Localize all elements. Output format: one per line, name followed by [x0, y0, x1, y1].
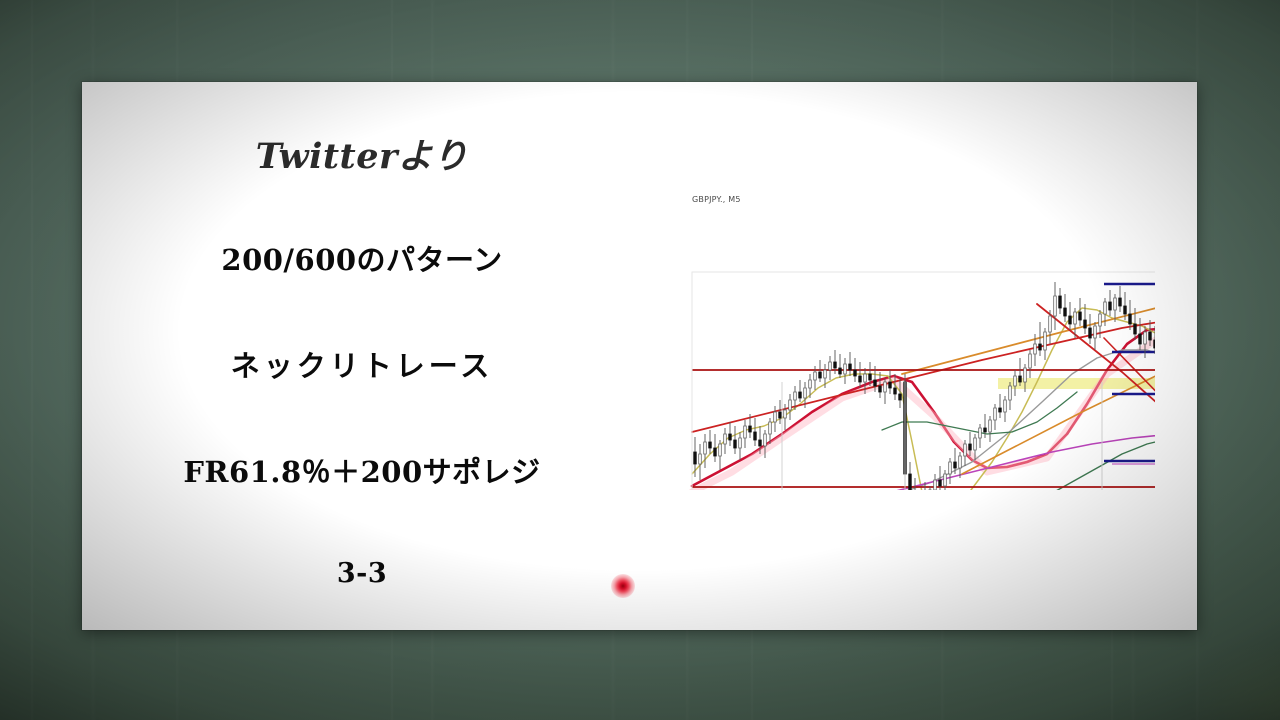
candle-body: [1109, 302, 1112, 310]
candle-body: [1154, 340, 1155, 348]
candle-body: [734, 440, 737, 448]
candle-body: [994, 408, 997, 420]
candle-body: [1004, 400, 1007, 412]
candle-body: [874, 380, 877, 386]
candle-body: [934, 480, 937, 490]
candle-body: [809, 380, 812, 388]
candle-body: [739, 438, 742, 448]
candle-body: [694, 452, 697, 464]
candle-body: [834, 362, 837, 368]
candle-body: [1124, 306, 1127, 314]
candle-body: [1089, 328, 1092, 338]
candle-body: [824, 370, 827, 378]
bullet-item-4: 3-3: [82, 558, 642, 589]
candle-body: [704, 442, 707, 454]
candle-body: [849, 364, 852, 370]
bullet-item-2: ネックリトレース: [82, 343, 642, 385]
presentation-stage: Twitterより 200/600のパターン ネックリトレース FR61.8％＋…: [0, 0, 1280, 720]
candle-body: [799, 392, 802, 398]
bullet-item-3: FR61.8％＋200サポレジ: [82, 449, 642, 491]
candle-body: [999, 408, 1002, 412]
page-title: Twitterより: [82, 128, 642, 179]
candle-body: [894, 388, 897, 394]
candle-body: [794, 392, 797, 400]
candle-body: [1049, 316, 1052, 332]
candle-body: [754, 432, 757, 440]
candle-body: [869, 374, 872, 380]
candle-body: [724, 434, 727, 444]
candle-body: [1119, 298, 1122, 306]
candle-body: [959, 456, 962, 468]
candle-body: [979, 428, 982, 438]
candle-body: [1129, 314, 1132, 324]
candle-body: [814, 372, 817, 380]
candle-body: [1074, 312, 1077, 324]
candle-body: [709, 442, 712, 448]
candle-body: [1084, 320, 1087, 328]
candle-body: [1034, 344, 1037, 354]
candle-body: [789, 400, 792, 410]
candle-body: [1114, 298, 1117, 310]
candle-body: [774, 412, 777, 422]
laser-pointer-dot: [611, 574, 635, 598]
candle-body: [879, 386, 882, 392]
candle-body: [1134, 324, 1137, 334]
candle-body: [1064, 308, 1067, 316]
candle-body: [989, 420, 992, 432]
candle-body: [829, 362, 832, 370]
candle-body: [1099, 314, 1102, 326]
candle-body: [954, 462, 957, 468]
candle-body: [769, 422, 772, 434]
candle-body: [1039, 344, 1042, 350]
candle-body: [714, 448, 717, 456]
candle-body: [864, 374, 867, 382]
candle-body: [729, 434, 732, 440]
candle-body: [1059, 296, 1062, 308]
candle-body: [1104, 302, 1107, 314]
slide-canvas: Twitterより 200/600のパターン ネックリトレース FR61.8％＋…: [82, 82, 1197, 630]
candle-body: [759, 440, 762, 446]
candle-body: [1054, 296, 1057, 316]
candle-body: [949, 462, 952, 474]
candle-body: [819, 372, 822, 378]
candle-body: [884, 382, 887, 392]
candle-body: [784, 410, 787, 418]
candle-body: [854, 370, 857, 376]
candle-body: [1019, 376, 1022, 382]
candle-body: [859, 376, 862, 382]
candle-body: [804, 388, 807, 398]
candle-body: [944, 474, 947, 486]
candlestick-chart-svg: +++: [610, 190, 1155, 490]
candle-body: [939, 480, 942, 486]
candle-body: [779, 412, 782, 418]
candle-body: [1009, 386, 1012, 400]
candle-body: [1029, 354, 1032, 368]
candle-body: [839, 368, 842, 374]
candle-body: [969, 444, 972, 450]
candle-body: [984, 428, 987, 432]
candle-body: [699, 454, 702, 464]
candle-body: [1014, 376, 1017, 386]
candle-body: [964, 444, 967, 456]
candle-body: [899, 394, 902, 400]
candle-body: [1094, 326, 1097, 338]
candle-body: [719, 444, 722, 456]
candle-body: [749, 426, 752, 432]
candle-body: [1139, 334, 1142, 344]
candle-body: [1024, 368, 1027, 382]
candle-body: [1079, 312, 1082, 320]
candle-body: [974, 438, 977, 450]
candle-body: [889, 382, 892, 388]
candle-body: [764, 434, 767, 446]
candle-body: [1069, 316, 1072, 324]
candle-body: [909, 474, 912, 490]
bullet-item-1: 200/600のパターン: [82, 237, 642, 279]
candle-body: [844, 364, 847, 374]
trading-chart-image: GBPJPY., M5 +++: [610, 190, 1155, 490]
board-glow: [1190, 640, 1280, 720]
candle-body: [1144, 332, 1147, 344]
candle-body: [1044, 332, 1047, 350]
candle-body: [1149, 332, 1152, 340]
candle-body: [744, 426, 747, 438]
